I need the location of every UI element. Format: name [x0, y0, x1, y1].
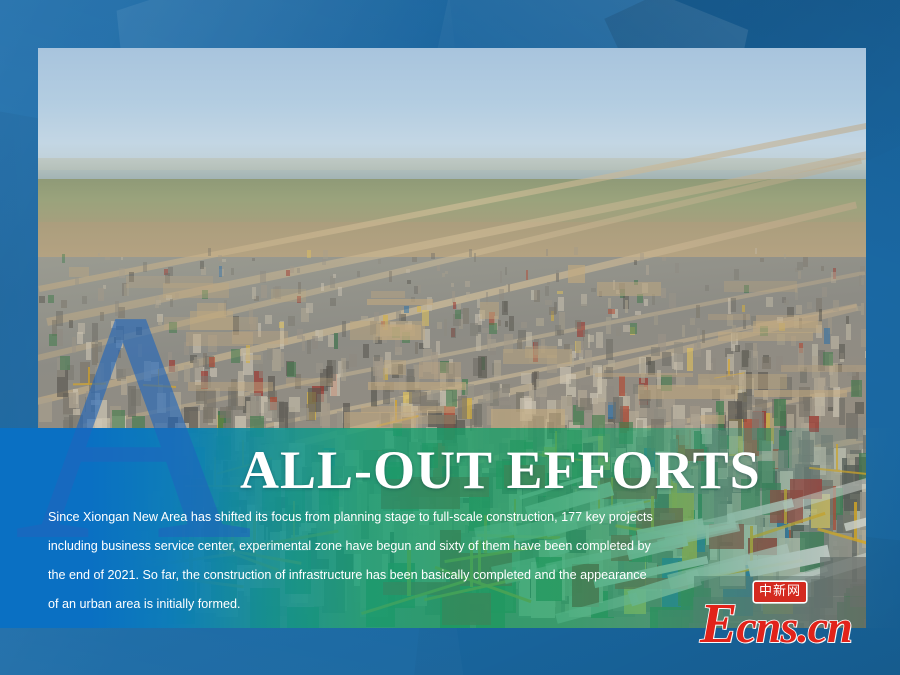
body-copy: Since Xiongan New Area has shifted its f… — [48, 511, 708, 627]
ecns-chinese-mark: 中新网 — [754, 582, 806, 602]
body-line: of an urban area is initially formed. — [48, 598, 708, 611]
page-title: ALL-OUT EFFORTS — [240, 443, 761, 497]
poster-canvas: A ALL-OUT EFFORTS Since Xiongan New Area… — [0, 0, 900, 675]
ecns-wordmark-capital: E — [700, 593, 736, 655]
ecns-logo[interactable]: 中新网 Ecns.cn — [700, 592, 878, 650]
ecns-wordmark-rest: cns.cn — [736, 601, 851, 652]
body-line: Since Xiongan New Area has shifted its f… — [48, 511, 708, 524]
body-line: including business service center, exper… — [48, 540, 708, 553]
ecns-wordmark: Ecns.cn — [700, 600, 852, 651]
body-line: the end of 2021. So far, the constructio… — [48, 569, 708, 582]
